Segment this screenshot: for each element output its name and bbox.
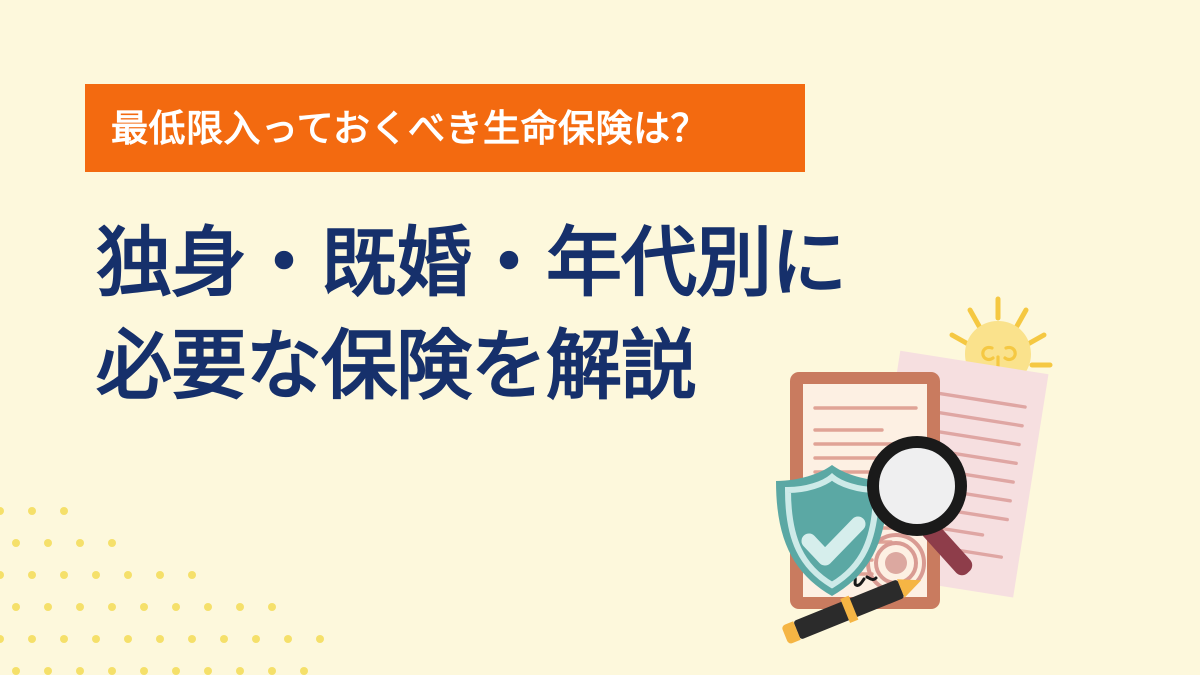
yellow-dot-wedge-decoration [0, 495, 330, 675]
eyebrow-label: 最低限入っておくべき生命保険は？ [111, 110, 708, 147]
slide-canvas: 最低限入っておくべき生命保険は？ 独身・既婚・年代別に 必要な保険を解説 [0, 0, 1200, 675]
dot-pattern-svg [0, 495, 330, 675]
eyebrow-banner: 最低限入っておくべき生命保険は？ [85, 84, 805, 172]
insurance-policy-illustration [720, 285, 1090, 655]
